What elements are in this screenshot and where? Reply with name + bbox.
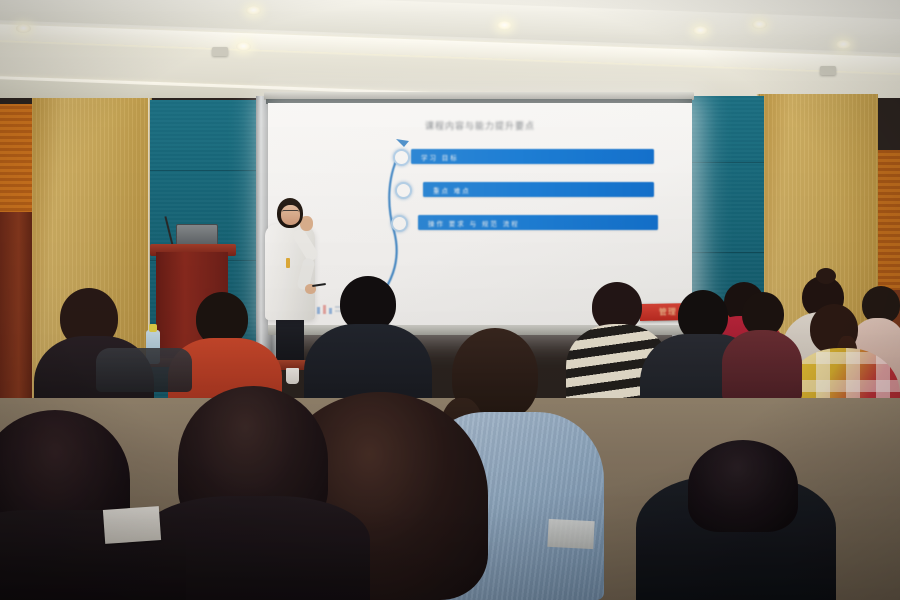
slide-item-1-label: 学习 目标 <box>421 152 459 162</box>
slide-item-2-label: 重点 难点 <box>433 185 471 195</box>
recessed-downlight <box>246 6 261 15</box>
presenter-face <box>281 205 300 225</box>
slide-bar-3: 操作 要求 与 规范 流程 <box>418 215 658 230</box>
recessed-downlight <box>16 24 31 33</box>
conference-chair[interactable] <box>96 348 192 392</box>
slide-node-2 <box>395 182 412 199</box>
ceiling-projector <box>820 66 836 75</box>
panel-seam <box>688 162 764 163</box>
lecture-hall-photo: 课程内容与能力提升要点 学习 目标 重点 难点 操作 要求 与 规范 流程 <box>0 0 900 600</box>
slide-bar-1: 学习 目标 <box>411 149 654 164</box>
hair-bun <box>816 268 836 284</box>
recessed-downlight <box>236 42 251 51</box>
slide-node-1 <box>393 149 410 166</box>
glasses-icon <box>282 210 299 215</box>
slide-node-3 <box>391 215 408 232</box>
slide-bar-2: 重点 难点 <box>423 182 654 197</box>
slide-item-3-label: 操作 要求 与 规范 流程 <box>428 218 520 228</box>
paper-on-desk[interactable] <box>103 506 161 544</box>
recessed-downlight <box>752 20 767 29</box>
panel-seam <box>688 252 764 253</box>
orange-acoustic-slats <box>0 104 34 214</box>
slide-title: 课程内容与能力提升要点 <box>327 119 632 131</box>
panel-seam <box>150 170 270 171</box>
recessed-downlight <box>693 26 708 35</box>
paper-cup[interactable] <box>286 368 299 384</box>
bottle-cap <box>149 324 157 332</box>
id-badge <box>286 258 290 268</box>
ceiling-projector <box>212 47 228 56</box>
recessed-downlight <box>836 40 851 49</box>
paper-on-desk[interactable] <box>547 519 594 549</box>
wood-door <box>0 212 34 402</box>
recessed-downlight <box>497 21 512 30</box>
